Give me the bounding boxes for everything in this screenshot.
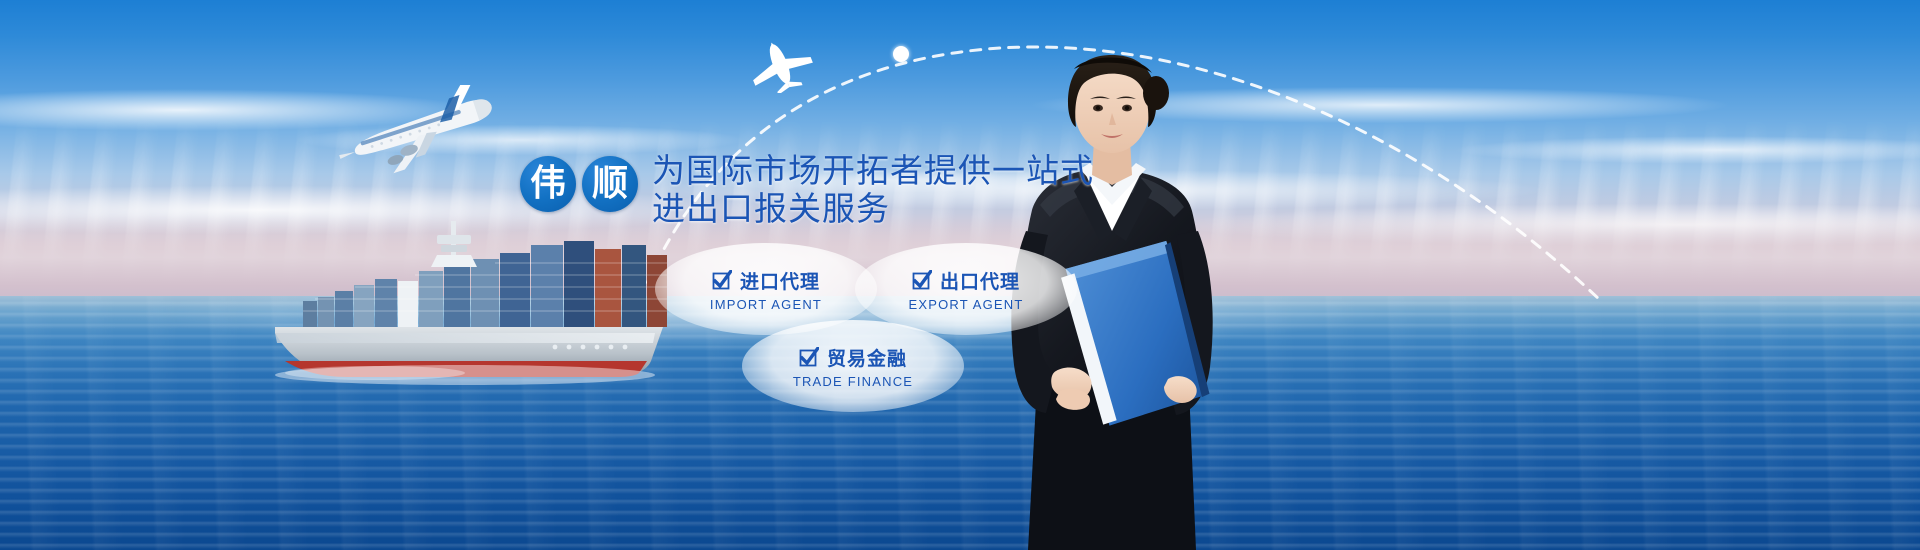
feature-label-cn: 贸易金融 xyxy=(827,344,907,371)
feature-label-en: IMPORT AGENT xyxy=(710,297,822,312)
feature-row: 出口代理 xyxy=(912,267,1020,294)
container-ship-icon xyxy=(255,215,675,385)
feature-label-en: TRADE FINANCE xyxy=(793,374,913,389)
feature-row: 贸易金融 xyxy=(799,344,907,371)
flight-path-dot xyxy=(893,46,909,62)
headline-line-2: 进出口报关服务 xyxy=(652,190,1094,228)
checkbox-check-icon xyxy=(912,270,932,290)
checkbox-check-icon xyxy=(712,270,732,290)
feature-label-cn: 出口代理 xyxy=(940,267,1020,294)
headline-line-1: 为国际市场开拓者提供一站式 xyxy=(652,152,1094,190)
feature-label-en: EXPORT AGENT xyxy=(908,297,1023,312)
headline-block: 伟 顺 为国际市场开拓者提供一站式 进出口报关服务 xyxy=(520,152,1094,228)
brand-logo[interactable]: 伟 顺 xyxy=(520,156,638,212)
airliner-icon xyxy=(330,85,510,180)
logo-mark-1: 伟 xyxy=(520,156,576,212)
checkbox-check-icon xyxy=(799,347,819,367)
feature-bubble-export-agent[interactable]: 出口代理 EXPORT AGENT xyxy=(855,243,1077,335)
headline-text: 为国际市场开拓者提供一站式 进出口报关服务 xyxy=(652,152,1094,228)
small-plane-icon xyxy=(745,35,815,93)
feature-bubble-trade-finance[interactable]: 贸易金融 TRADE FINANCE xyxy=(742,320,964,412)
promo-banner: 伟 顺 为国际市场开拓者提供一站式 进出口报关服务 进口代理 IMPORT AG… xyxy=(0,0,1920,550)
logo-mark-2: 顺 xyxy=(582,156,638,212)
feature-label-cn: 进口代理 xyxy=(740,267,820,294)
feature-row: 进口代理 xyxy=(712,267,820,294)
